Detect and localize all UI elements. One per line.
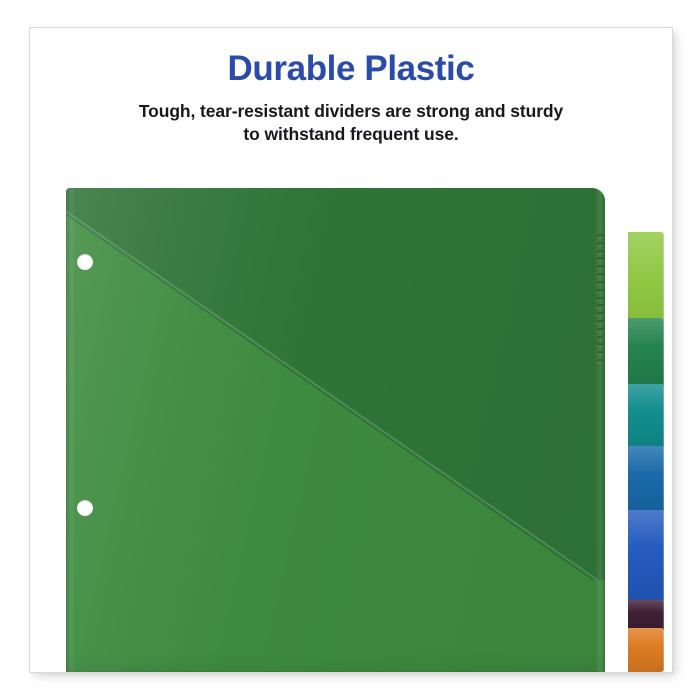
perforation-dot (597, 273, 603, 276)
perforation-dot (597, 328, 603, 331)
perforation-dot (597, 234, 603, 237)
perforation-dot (597, 257, 603, 260)
upper-punch-hole (77, 254, 93, 270)
perforation-dot (597, 312, 603, 315)
product-card: Durable Plastic Tough, tear-resistant di… (30, 28, 672, 672)
perforation-dot (597, 242, 603, 245)
page-subtitle-line-2: to withstand frequent use. (243, 124, 458, 144)
perforation-dot (597, 265, 603, 268)
perforation-dot (597, 336, 603, 339)
lower-punch-hole (77, 500, 93, 516)
perforation-dot (597, 304, 603, 307)
perforation-dot (597, 289, 603, 292)
divider-cover-sheet (66, 188, 605, 672)
tab-green (628, 318, 664, 394)
perforation-dot (597, 320, 603, 323)
diagonal-pocket (66, 188, 605, 672)
plastic-divider-set (66, 188, 672, 672)
perforation-dot (597, 343, 603, 346)
page-subtitle: Tough, tear-resistant dividers are stron… (71, 100, 631, 147)
page-title: Durable Plastic (30, 50, 672, 89)
product-image-stage: Durable Plastic Tough, tear-resistant di… (0, 0, 700, 700)
perforation-dot (597, 250, 603, 253)
perforation-dot (597, 359, 603, 362)
tab-teal-blue (628, 446, 664, 520)
tab-orange (628, 628, 664, 672)
page-subtitle-line-1: Tough, tear-resistant dividers are stron… (139, 101, 563, 121)
cover-bottom-shading (66, 652, 605, 672)
heading-block: Durable Plastic Tough, tear-resistant di… (30, 50, 672, 146)
perforation-strip (597, 234, 603, 362)
perforation-dot (597, 297, 603, 300)
perforation-dot (597, 351, 603, 354)
cover-spine-shading (66, 188, 75, 672)
perforation-dot (597, 281, 603, 284)
tab-royal-blue (628, 510, 664, 608)
